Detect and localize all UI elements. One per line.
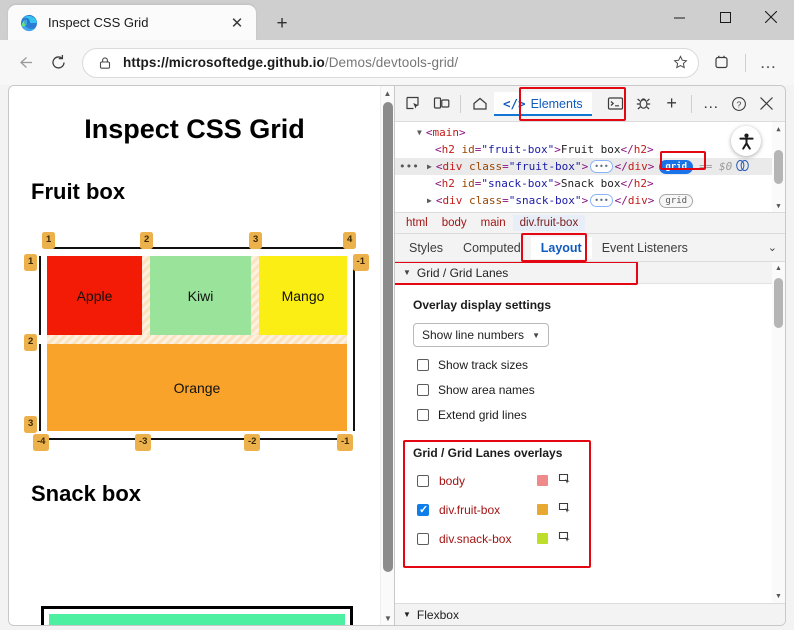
section-expand-triangle-icon[interactable]: ▼ <box>403 610 411 619</box>
content-row: Inspect CSS Grid Fruit box Apple Kiwi Ma… <box>0 85 794 630</box>
tab-title: Inspect CSS Grid <box>48 15 226 30</box>
tab-styles[interactable]: Styles <box>399 237 453 259</box>
grid-grid-lanes-title: Grid / Grid Lanes <box>417 266 508 280</box>
overlay-item-label: div.snack-box <box>439 532 527 546</box>
dom-node-div-snack-box[interactable]: ▶<div class="snack-box">•••</div> grid <box>395 192 785 209</box>
devtools-panel: </> Elements + … ? <box>394 85 786 626</box>
grid-line-bottom <box>259 438 347 440</box>
dom-tree-scrollbar[interactable]: ▲ ▼ <box>772 122 785 212</box>
dom-tag-div: div <box>442 160 462 173</box>
debugger-bug-icon[interactable] <box>630 91 658 117</box>
grid-line-number-top-2: 2 <box>140 232 153 249</box>
dom-attr-id-value: "fruit-box" <box>481 143 554 156</box>
grid-gap <box>142 256 150 335</box>
overlay-item-div-snack-box[interactable]: div.snack-box <box>417 530 785 547</box>
dom-attr-class-snack-value: "snack-box" <box>509 194 582 207</box>
dom-attr-id: id <box>462 143 475 156</box>
show-element-icon[interactable] <box>558 472 572 489</box>
grid-line-left <box>39 344 41 431</box>
dom-scroll-down-icon[interactable]: ▼ <box>772 199 785 212</box>
selected-node-ref: == $0 <box>699 160 732 173</box>
grid-line-number-top-4: 4 <box>343 232 356 249</box>
navigation-bar: https://microsoftedge.github.io/Demos/de… <box>0 40 794 85</box>
tab-close-icon[interactable]: ✕ <box>226 12 248 34</box>
dom-tag-h2-snack: h2 <box>442 177 455 190</box>
grid-line-number-bottom--1: -1 <box>337 434 353 451</box>
tab-elements[interactable]: </> Elements <box>494 92 592 115</box>
breadcrumb-item-html[interactable]: html <box>399 215 435 231</box>
grid-line-number-left-2: 2 <box>24 334 37 351</box>
devtools-close-icon[interactable] <box>753 91 781 117</box>
overlay-item-label: body <box>439 474 527 488</box>
css-layer-icon[interactable] <box>736 159 749 175</box>
checkbox-box[interactable] <box>417 384 429 396</box>
console-icon[interactable] <box>602 91 630 117</box>
browser-window: Inspect CSS Grid ✕ + https://mi <box>0 0 794 630</box>
layout-pane-scrollbar[interactable]: ▲ ▼ <box>772 262 785 603</box>
tab-strip: Inspect CSS Grid ✕ + <box>0 0 794 40</box>
page-scrollbar-thumb[interactable] <box>383 102 393 572</box>
window-minimize-button[interactable] <box>656 0 702 34</box>
layout-scroll-down-icon[interactable]: ▼ <box>772 590 785 603</box>
lock-icon <box>93 51 117 75</box>
grid-overlays-title: Grid / Grid Lanes overlays <box>413 446 785 460</box>
device-emulation-icon[interactable] <box>427 91 455 117</box>
breadcrumb-item-main[interactable]: main <box>474 215 513 231</box>
dom-close-h2-snack: h2 <box>634 177 647 190</box>
overlay-item-body[interactable]: body <box>417 472 785 489</box>
new-tab-button[interactable]: + <box>268 10 296 38</box>
snack-box: Seaweed <box>41 606 353 625</box>
flexbox-title: Flexbox <box>417 608 459 622</box>
scroll-up-arrow-icon[interactable]: ▲ <box>381 86 394 100</box>
tab-elements-label: Elements <box>531 97 583 111</box>
node-menu-dots-icon[interactable]: ••• <box>399 160 419 173</box>
collections-icon[interactable] <box>705 47 737 79</box>
grid-line-top <box>259 247 347 249</box>
chevron-down-icon[interactable]: ⌄ <box>768 241 777 254</box>
grid-line-number-right--1: -1 <box>353 254 369 271</box>
collapse-arrow-icon[interactable]: ▶ <box>427 196 432 205</box>
grid-line-top <box>47 247 142 249</box>
svg-text:?: ? <box>736 99 741 109</box>
browser-tab[interactable]: Inspect CSS Grid ✕ <box>8 5 256 40</box>
web-page: Inspect CSS Grid Fruit box Apple Kiwi Ma… <box>9 86 380 625</box>
dom-text-snack: Snack box <box>561 177 621 190</box>
collapsed-children-icon[interactable]: ••• <box>590 194 612 207</box>
page-viewport: Inspect CSS Grid Fruit box Apple Kiwi Ma… <box>8 85 394 626</box>
breadcrumb-item-div-fruit-box[interactable]: div.fruit-box <box>513 215 586 231</box>
dom-tree[interactable]: ▼<main> <h2 id="fruit-box">Fruit box</h2… <box>395 122 785 212</box>
grid-cell-kiwi: Kiwi <box>150 256 251 335</box>
grid-line-number-left-1: 1 <box>24 254 37 271</box>
add-panel-button[interactable]: + <box>658 91 686 117</box>
section-expand-triangle-icon[interactable]: ▼ <box>403 268 411 277</box>
page-scrollbar[interactable]: ▲ ▼ <box>380 86 394 625</box>
layout-scrollbar-thumb[interactable] <box>774 278 783 328</box>
tab-event-listeners[interactable]: Event Listeners <box>592 237 698 259</box>
accessibility-person-icon[interactable] <box>731 126 761 156</box>
checkbox-box[interactable] <box>417 533 429 545</box>
dom-close-div: div <box>628 160 648 173</box>
checkbox-label: Extend grid lines <box>438 408 527 422</box>
dom-close-h2: h2 <box>634 143 647 156</box>
help-icon[interactable]: ? <box>725 91 753 117</box>
dom-attr-class: class <box>469 160 502 173</box>
grid-line-number-bottom--2: -2 <box>244 434 260 451</box>
checkbox-show-track-sizes[interactable]: Show track sizes <box>417 358 785 372</box>
devtools-toolbar: </> Elements + … ? <box>395 86 785 122</box>
snack-box-heading: Snack box <box>31 481 141 507</box>
grid-line-number-bottom--3: -3 <box>135 434 151 451</box>
fruit-box-grid: Apple Kiwi Mango Orange <box>47 256 347 431</box>
checkbox-box[interactable] <box>417 409 429 421</box>
collapsed-children-icon[interactable]: ••• <box>590 160 612 173</box>
grid-line-number-top-3: 3 <box>249 232 262 249</box>
scroll-down-arrow-icon[interactable]: ▼ <box>381 611 394 625</box>
edge-logo-icon <box>20 14 38 32</box>
grid-gap <box>251 256 259 335</box>
expand-arrow-icon[interactable]: ▼ <box>417 128 422 137</box>
overlay-color-swatch[interactable] <box>537 475 548 486</box>
grid-line-right <box>353 256 355 431</box>
overlay-item-div-fruit-box[interactable]: div.fruit-box <box>417 501 785 518</box>
inspect-element-icon[interactable] <box>399 91 427 117</box>
devtools-sidebar-tabs: Styles Computed Layout Event Listeners ⌄ <box>395 234 785 262</box>
show-element-icon[interactable] <box>558 530 572 547</box>
back-button[interactable] <box>8 47 40 79</box>
url-text[interactable]: https://microsoftedge.github.io/Demos/de… <box>117 55 668 70</box>
fruit-box-grid-overlay: Apple Kiwi Mango Orange <box>47 256 347 431</box>
dom-attr-id-snack: id <box>462 177 475 190</box>
window-close-button[interactable] <box>748 0 794 34</box>
layout-pane-body: Overlay display settings Show line numbe… <box>395 284 785 547</box>
tab-computed[interactable]: Computed <box>453 237 531 259</box>
grid-cell-apple: Apple <box>47 256 142 335</box>
grid-cell-seaweed: Seaweed <box>49 614 345 625</box>
grid-line-number-left-3: 3 <box>24 416 37 433</box>
devtools-overflow-icon[interactable]: … <box>697 91 725 117</box>
breadcrumb-item-body[interactable]: body <box>435 215 474 231</box>
overlay-color-swatch[interactable] <box>537 504 548 515</box>
reload-button[interactable] <box>42 47 74 79</box>
checkbox-label: Show track sizes <box>438 358 528 372</box>
grid-line-bottom <box>47 438 142 440</box>
dom-node-h2-snack[interactable]: <h2 id="snack-box">Snack box</h2> <box>395 175 785 192</box>
layout-scroll-up-icon[interactable]: ▲ <box>772 262 785 275</box>
checkbox-extend-grid-lines[interactable]: Extend grid lines <box>417 408 785 422</box>
checkbox-show-area-names[interactable]: Show area names <box>417 383 785 397</box>
overlay-color-swatch[interactable] <box>537 533 548 544</box>
overlay-item-label: div.fruit-box <box>439 503 527 517</box>
flexbox-section-header[interactable]: ▼ Flexbox <box>395 603 785 625</box>
favorite-star-icon[interactable] <box>668 51 692 75</box>
chevron-down-icon: ▼ <box>532 331 540 340</box>
grid-line-number-top-1: 1 <box>42 232 55 249</box>
dom-scrollbar-thumb[interactable] <box>774 150 783 184</box>
home-icon[interactable] <box>466 91 494 117</box>
dom-tag-h2: h2 <box>442 143 455 156</box>
grid-cell-orange: Orange <box>47 344 347 431</box>
grid-line-bottom <box>150 438 251 440</box>
dom-close-div-snack: div <box>628 194 648 207</box>
dom-scroll-up-icon[interactable]: ▲ <box>772 122 785 135</box>
fruit-box-heading: Fruit box <box>31 179 380 205</box>
checkbox-box[interactable] <box>417 359 429 371</box>
breadcrumb: html body main div.fruit-box <box>395 212 785 234</box>
grid-badge-snack-box[interactable]: grid <box>659 194 693 208</box>
dom-text-fruit: Fruit box <box>561 143 621 156</box>
grid-line-top <box>150 247 251 249</box>
dom-attr-class-snack: class <box>469 194 502 207</box>
dom-tag-div-snack: div <box>442 194 462 207</box>
dom-node-div-fruit-box[interactable]: ••• ▶<div class="fruit-box">•••</div> gr… <box>395 158 785 175</box>
dom-node-main[interactable]: ▼<main> <box>395 124 785 141</box>
dom-attr-id-snack-value: "snack-box" <box>481 177 554 190</box>
grid-gap-row <box>47 335 347 344</box>
show-element-icon[interactable] <box>558 501 572 518</box>
grid-cell-mango: Mango <box>259 256 347 335</box>
dom-tag-main: main <box>432 126 459 139</box>
address-bar[interactable]: https://microsoftedge.github.io/Demos/de… <box>82 48 699 78</box>
grid-overlays-section: Grid / Grid Lanes overlays body div.fru <box>413 446 785 547</box>
code-brackets-icon: </> <box>503 96 526 111</box>
grid-line-number-bottom--4: -4 <box>33 434 49 451</box>
window-maximize-button[interactable] <box>702 0 748 34</box>
grid-badge-fruit-box[interactable]: grid <box>659 160 693 174</box>
window-controls <box>656 0 794 40</box>
checkbox-label: Show area names <box>438 383 535 397</box>
url-path: /Demos/devtools-grid/ <box>325 55 458 70</box>
snack-box-grid: Seaweed <box>49 614 345 625</box>
checkbox-box[interactable] <box>417 504 429 516</box>
grid-line-left <box>39 256 41 335</box>
checkbox-box[interactable] <box>417 475 429 487</box>
browser-settings-icon[interactable]: … <box>752 47 784 79</box>
page-title: Inspect CSS Grid <box>9 114 380 145</box>
line-labels-dropdown[interactable]: Show line numbers ▼ <box>413 323 549 347</box>
dom-attr-class-value: "fruit-box" <box>509 160 582 173</box>
url-host: https://microsoftedge.github.io <box>123 55 325 70</box>
layout-pane: ▼ Grid / Grid Lanes Overlay display sett… <box>395 262 785 625</box>
line-labels-dropdown-value: Show line numbers <box>422 328 524 342</box>
tab-layout[interactable]: Layout <box>531 237 592 259</box>
overlay-display-settings-title: Overlay display settings <box>413 298 785 312</box>
collapse-arrow-icon[interactable]: ▶ <box>427 162 432 171</box>
grid-grid-lanes-section-header[interactable]: ▼ Grid / Grid Lanes <box>395 262 785 284</box>
dom-node-h2-fruit[interactable]: <h2 id="fruit-box">Fruit box</h2> <box>395 141 785 158</box>
